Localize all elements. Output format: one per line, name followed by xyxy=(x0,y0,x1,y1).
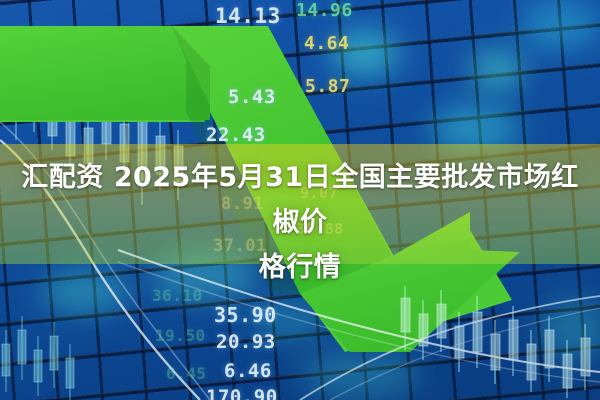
ticker-value: 19.50 xyxy=(155,328,206,344)
headline-line-1: 汇配资 2025年5月31日全国主要批发市场红椒价 xyxy=(21,162,578,238)
ticker-value: 35.90 xyxy=(214,305,277,325)
ticker-value: 36.10 xyxy=(152,288,203,304)
headline-line-2: 格行情 xyxy=(14,245,586,290)
banner-image: 14.13 5.43 22.43 8.91 37.01 35.90 20.93 … xyxy=(0,0,600,400)
ticker-value: 170.90 xyxy=(206,388,278,400)
ticker-value: 14.13 xyxy=(215,6,281,27)
ticker-value: 5.87 xyxy=(305,78,350,96)
ticker-value: 14.96 xyxy=(296,2,353,20)
ticker-value: 6.45 xyxy=(166,366,207,382)
ticker-value: 5.43 xyxy=(228,88,276,107)
ticker-value: 4.64 xyxy=(304,35,349,53)
ticker-value: 6.46 xyxy=(224,362,272,381)
ticker-value: 22.43 xyxy=(206,126,266,145)
headline-text: 汇配资 2025年5月31日全国主要批发市场红椒价 格行情 xyxy=(0,155,600,290)
ticker-value: 20.93 xyxy=(216,333,276,352)
